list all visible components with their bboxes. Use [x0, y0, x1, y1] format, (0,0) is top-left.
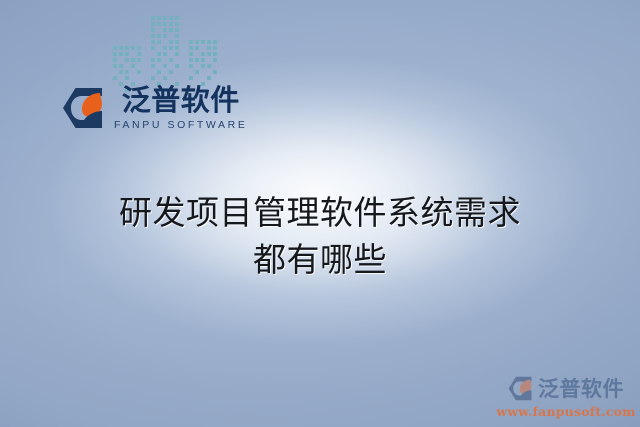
page-title-line-1: 研发项目管理软件系统需求 [0, 190, 640, 237]
page-title: 研发项目管理软件系统需求 都有哪些 [0, 190, 640, 284]
brand-name-en: FANPU SOFTWARE [114, 119, 247, 131]
fanpu-hexagon-leaf-logo-icon [62, 87, 108, 129]
brand-lockup: 泛普软件 FANPU SOFTWARE [62, 86, 247, 131]
brand-name-cn: 泛普软件 [122, 86, 240, 117]
watermark-brand-name: 泛普软件 [538, 373, 624, 403]
fanpu-hexagon-leaf-logo-icon [508, 376, 535, 401]
watermark-brand-row: 泛普软件 [508, 373, 624, 403]
watermark-url: www.fanpusoft.com [496, 404, 635, 419]
watermark: 泛普软件 www.fanpusoft.com [500, 373, 632, 419]
slide-canvas: 泛普软件 FANPU SOFTWARE 研发项目管理软件系统需求 都有哪些 泛普… [0, 0, 640, 427]
page-title-line-2: 都有哪些 [0, 237, 640, 284]
pixel-skyline-dots-icon [113, 14, 219, 94]
